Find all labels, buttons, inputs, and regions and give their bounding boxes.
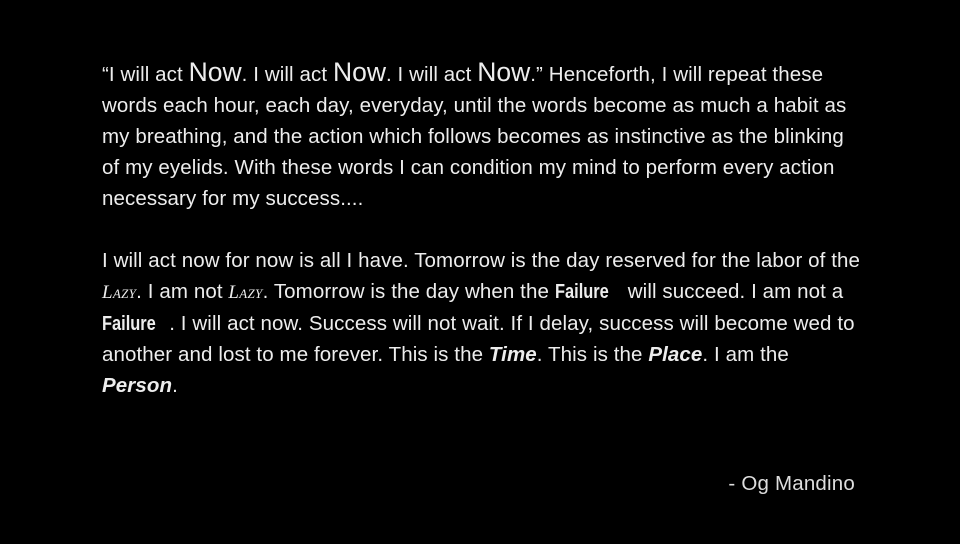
quote-emphasis-failure-2: Failure (102, 308, 156, 339)
quote-p2-segment-4: will succeed. I am not a (622, 280, 843, 303)
quote-p2-segment-1: I will act now for now is all I have. To… (102, 249, 860, 272)
quote-emphasis-lazy-2: Lazy (228, 282, 262, 303)
quote-text-block: “I will act Now. I will act Now. I will … (102, 57, 862, 401)
quote-p2-segment-6: . This is the (537, 343, 649, 366)
quote-emphasis-now-3: Now (477, 57, 530, 87)
quote-emphasis-failure-1: Failure (555, 276, 609, 307)
quote-p1-segment-1: “I will act (102, 63, 189, 86)
quote-p2-segment-7: . I am the (702, 343, 788, 366)
quote-emphasis-now-2: Now (333, 57, 386, 87)
quote-attribution: - Og Mandino (102, 470, 855, 498)
quote-emphasis-time: Time (489, 343, 537, 366)
quote-slide: “I will act Now. I will act Now. I will … (0, 0, 960, 544)
quote-p2-segment-8: . (172, 374, 178, 397)
quote-emphasis-lazy-1: Lazy (102, 282, 136, 303)
quote-p2-segment-3: . Tomorrow is the day when the (263, 280, 555, 303)
quote-emphasis-place: Place (648, 343, 702, 366)
quote-paragraph-1: “I will act Now. I will act Now. I will … (102, 57, 862, 214)
quote-p1-segment-3: . I will act (386, 63, 477, 86)
quote-p2-segment-2: . I am not (136, 280, 228, 303)
quote-paragraph-2: I will act now for now is all I have. To… (102, 245, 862, 401)
quote-p1-segment-2: . I will act (242, 63, 333, 86)
quote-emphasis-now-1: Now (189, 57, 242, 87)
quote-emphasis-person: Person (102, 374, 172, 397)
